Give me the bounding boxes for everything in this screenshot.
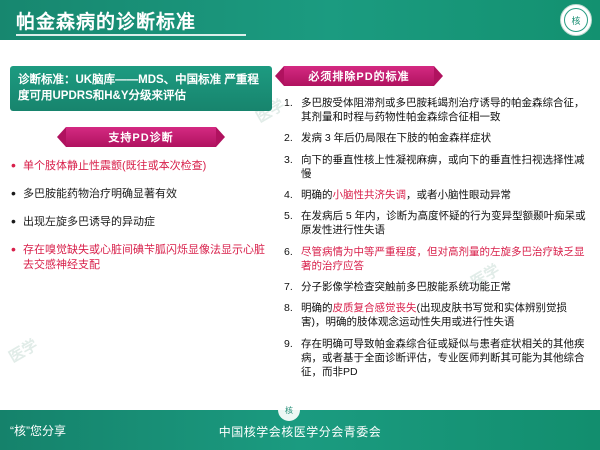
left-column: 诊断标准：UK脑库——MDS、中国标准 严重程度可用UPDRS和H&Y分级来评估…: [10, 66, 272, 286]
support-pd-ribbon: 支持PD诊断: [66, 127, 216, 147]
right-column: 必须排除PD的标准 多巴胺受体阻滞剂或多巴胺耗竭剂治疗诱导的帕金森综合征，其剂量…: [284, 66, 590, 386]
footer-logo-icon: 核: [278, 399, 300, 421]
watermark: 医学: [5, 334, 41, 367]
slide-header: 帕金森病的诊断标准 核: [0, 0, 600, 40]
exclusion-criteria-ribbon: 必须排除PD的标准: [284, 66, 434, 86]
slide-footer: “核”您分享 核 中国核学会核医学分会青委会: [0, 410, 600, 450]
diagnostic-criteria-box: 诊断标准：UK脑库——MDS、中国标准 严重程度可用UPDRS和H&Y分级来评估: [10, 66, 272, 111]
list-item: 尽管病情为中等严重程度，但对高剂量的左旋多巴治疗缺乏显著的治疗应答: [284, 245, 590, 273]
logo-glyph-icon: 核: [564, 8, 588, 32]
support-bullet-list: 单个肢体静止性震颤(既往或本次检查) 多巴胺能药物治疗明确显著有效 出现左旋多巴…: [10, 159, 272, 273]
list-item: 发病 3 年后仍局限在下肢的帕金森样症状: [284, 131, 590, 145]
footer-organization: 中国核学会核医学分会青委会: [0, 423, 600, 440]
list-item: 出现左旋多巴诱导的异动症: [10, 215, 272, 230]
list-item: 向下的垂直性核上性凝视麻痹，或向下的垂直性扫视选择性减慢: [284, 153, 590, 181]
slide-body: 医学 医学 医学 诊断标准：UK脑库——MDS、中国标准 严重程度可用UPDRS…: [0, 40, 600, 410]
list-item: 多巴胺能药物治疗明确显著有效: [10, 187, 272, 202]
exclusion-criteria-list: 多巴胺受体阻滞剂或多巴胺耗竭剂治疗诱导的帕金森综合征，其剂量和时程与药物性帕金森…: [284, 96, 590, 379]
title-underline: [16, 34, 246, 36]
list-item: 存在嗅觉缺失或心脏间碘苄胍闪烁显像法显示心脏去交感神经支配: [10, 243, 272, 273]
list-item: 明确的小脑性共济失调，或者小脑性眼动异常: [284, 188, 590, 202]
list-item: 分子影像学检查突触前多巴胺能系统功能正常: [284, 280, 590, 294]
list-item: 单个肢体静止性震颤(既往或本次检查): [10, 159, 272, 174]
list-item: 明确的皮质复合感觉丧失(出现皮肤书写觉和实体辨别觉损害)，明确的肢体观念运动性失…: [284, 301, 590, 329]
page-title: 帕金森病的诊断标准: [16, 7, 196, 34]
list-item: 在发病后 5 年内，诊断为高度怀疑的行为变异型额颞叶痴呆或原发性进行性失语: [284, 209, 590, 237]
organization-logo: 核: [560, 4, 592, 36]
list-item: 存在明确可导致帕金森综合征或疑似与患者症状相关的其他疾病，或者基于全面诊断评估，…: [284, 337, 590, 380]
list-item: 多巴胺受体阻滞剂或多巴胺耗竭剂治疗诱导的帕金森综合征，其剂量和时程与药物性帕金森…: [284, 96, 590, 124]
